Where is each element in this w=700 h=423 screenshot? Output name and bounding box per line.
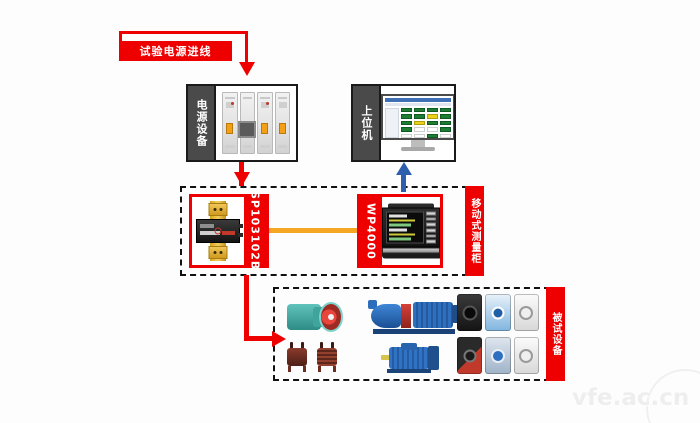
connector-sensor-to-analyzer-cable [268, 228, 358, 233]
group-label-device-under-test: 被试设备 [546, 287, 565, 381]
site-watermark: vfe.ac.cn [572, 385, 689, 411]
power-analyzer-icon [382, 197, 440, 265]
instrument-transformer-ribbed-icon [315, 342, 339, 372]
desktop-monitor-icon [381, 86, 454, 160]
node-host-computer[interactable]: 上位机 [351, 84, 456, 162]
node-power-equipment[interactable]: 电源设备 [186, 84, 298, 162]
connector-analyzer-to-host-arrowhead-icon [396, 162, 412, 175]
dut-item-induction-motor [367, 335, 453, 376]
induction-motor-icon [381, 343, 443, 373]
dut-item-sensor-array-top [455, 292, 541, 333]
group-label-mobile-measurement-cabinet: 移动式测量柜 [465, 186, 484, 276]
switchgear-cabinet-icon [216, 86, 296, 160]
test-power-feed-banner: 试验电源进线 [119, 41, 232, 61]
power-equipment-label-tab: 电源设备 [188, 86, 216, 160]
connector-cabinet-to-dut-vertical [244, 275, 249, 341]
centrifugal-pump-icon [371, 298, 457, 334]
feed-line-top-segment [119, 31, 248, 34]
current-sensor-icon [192, 197, 244, 265]
feed-line-arrowhead-icon [239, 62, 255, 76]
dut-equipment-gallery [279, 292, 541, 376]
connector-cabinet-to-dut-arrowhead-icon [272, 331, 286, 347]
instrument-wp4000-label: WP4000 [360, 197, 382, 265]
axial-fan-icon [287, 302, 343, 332]
transducer-array-icon [457, 294, 539, 331]
dut-item-axial-fan [279, 292, 365, 333]
feed-line-down-segment [245, 31, 248, 65]
instrument-sp103102b-label: SP103102B [244, 197, 266, 265]
dut-item-sensor-array-bottom [455, 335, 541, 376]
connector-power-to-sensor-arrowhead-icon [234, 172, 250, 186]
instrument-wp4000[interactable]: WP4000 [357, 194, 443, 268]
instrument-sp103102b[interactable]: SP103102B [189, 194, 269, 268]
host-computer-label-tab: 上位机 [353, 86, 381, 160]
diagram-canvas: 试验电源进线 电源设备 上位机 [0, 0, 700, 423]
dut-item-centrifugal-pump [367, 292, 453, 333]
instrument-transformer-icon [285, 342, 309, 372]
dut-item-transformers [279, 335, 365, 376]
transducer-array-icon [457, 337, 539, 374]
